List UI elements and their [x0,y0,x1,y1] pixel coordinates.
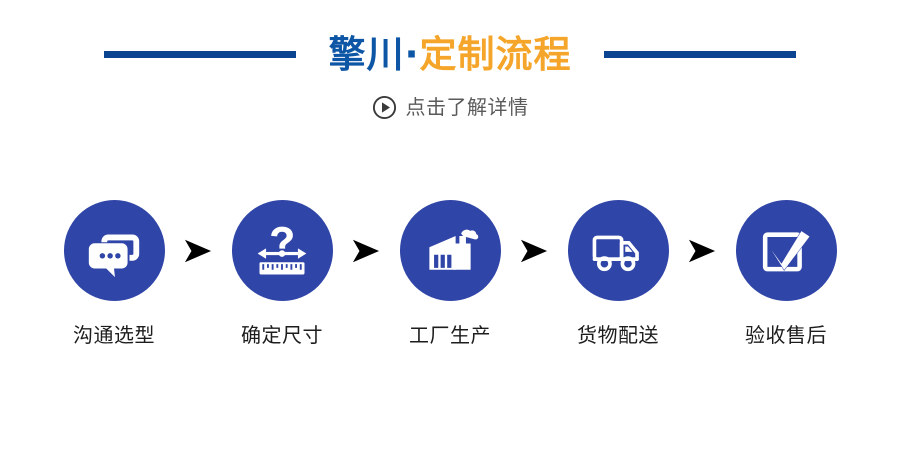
step-item[interactable]: 货物配送 [559,200,677,345]
process-steps: 沟通选型 [0,200,900,370]
page-root: 擎川·定制流程 点击了解详情 [0,0,900,449]
step-icon-circle[interactable] [232,200,333,301]
header-rule-right [604,51,796,58]
step-label: 验收售后 [745,325,827,345]
header-banner: 擎川·定制流程 [0,26,900,82]
page-title: 擎川·定制流程 [328,36,571,73]
factory-icon [420,221,480,281]
arrow-right-icon [686,237,718,265]
header-rule-left [104,51,296,58]
arrow-right-icon [182,237,214,265]
step-arrow [173,200,223,301]
chat-bubbles-icon [83,220,145,282]
step-arrow [677,200,727,301]
step-item[interactable]: 沟通选型 [55,200,173,345]
arrow-right-icon [518,237,550,265]
play-circle-icon[interactable] [372,95,397,120]
step-arrow [341,200,391,301]
ruler-measure-icon [252,221,312,281]
step-icon-circle[interactable] [736,200,837,301]
step-label: 货物配送 [577,325,659,345]
title-brand: 擎川 [328,33,404,76]
step-icon-circle[interactable] [64,200,165,301]
subtitle-text: 点击了解详情 [406,97,529,117]
title-highlight: 定制流程 [420,33,572,76]
step-label: 工厂生产 [409,325,491,345]
step-arrow [509,200,559,301]
step-icon-circle[interactable] [400,200,501,301]
step-item[interactable]: 验收售后 [727,200,845,345]
step-item[interactable]: 确定尺寸 [223,200,341,345]
step-label: 确定尺寸 [241,325,323,345]
subtitle-cta[interactable]: 点击了解详情 [0,91,900,123]
title-separator: · [404,33,419,76]
step-label: 沟通选型 [73,325,155,345]
arrow-right-icon [350,237,382,265]
step-icon-circle[interactable] [568,200,669,301]
step-item[interactable]: 工厂生产 [391,200,509,345]
delivery-truck-icon [589,222,647,280]
checkbox-check-icon [757,222,815,280]
